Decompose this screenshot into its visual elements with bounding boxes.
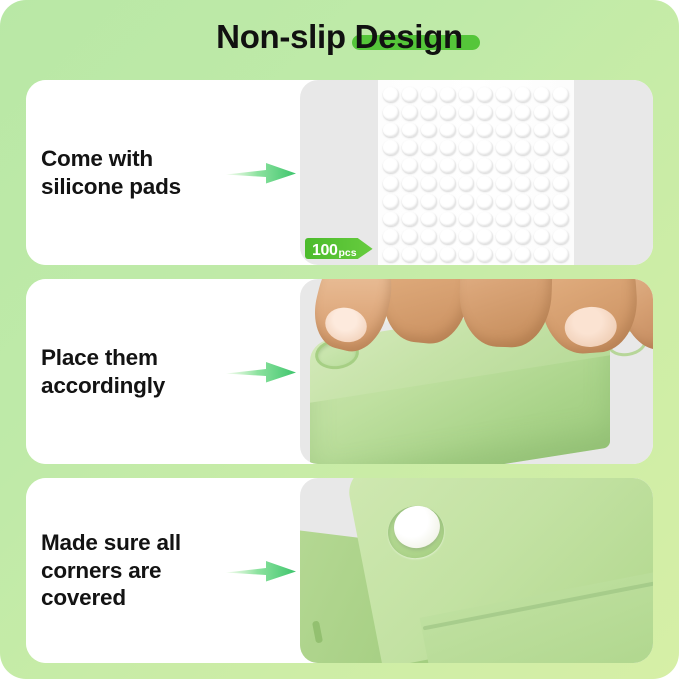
product-infographic: Non-slip Design Come with silicone pads [0,0,679,679]
silicone-pad [459,87,475,102]
silicone-pad [402,158,418,173]
card-3-caption-area: Made sure all corners are covered [26,478,300,663]
page-title: Non-slip Design [216,18,463,55]
silicone-pad [496,87,512,102]
card-2-caption-area: Place them accordingly [26,279,300,464]
silicone-pad [459,229,475,244]
silicone-pad [383,105,399,120]
silicone-pad [440,123,456,138]
silicone-pad [421,247,437,262]
silicone-pad [515,158,531,173]
silicone-pad [459,247,475,262]
silicone-pad [440,247,456,262]
silicone-pad [515,123,531,138]
silicone-pad [459,194,475,209]
silicone-pad [440,105,456,120]
silicone-pad [402,229,418,244]
silicone-pad [477,123,493,138]
feature-card-2: Place them accordingly [26,279,653,464]
silicone-pad [515,105,531,120]
silicone-pad [477,247,493,262]
silicone-pad [496,229,512,244]
silicone-pad [496,158,512,173]
thumbnail [563,305,618,349]
card-1-caption: Come with silicone pads [26,145,181,200]
silicone-pad [496,212,512,227]
silicone-pad [402,212,418,227]
card-3-caption: Made sure all corners are covered [26,529,181,612]
silicone-pad [421,140,437,155]
silicone-pad [553,176,569,191]
silicone-pad [515,194,531,209]
silicone-pad [496,140,512,155]
silicone-pad [421,176,437,191]
silicone-pad [496,194,512,209]
silicone-pad [553,87,569,102]
arrow-right-icon [226,558,296,584]
silicone-pad [553,140,569,155]
silicone-pad [553,212,569,227]
hand-placing-pad-photo [300,279,653,464]
silicone-pad [477,212,493,227]
silicone-pad [477,176,493,191]
silicone-pad [440,229,456,244]
silicone-pad [402,140,418,155]
silicone-pad [459,158,475,173]
card-2-caption: Place them accordingly [26,344,165,399]
silicone-pad [515,212,531,227]
card-2-caption-line-2: accordingly [41,372,165,400]
silicone-pad [421,158,437,173]
card-3-photo [300,478,653,663]
silicone-pad [440,176,456,191]
feature-card-1: Come with silicone pads 100 [26,80,653,265]
silicone-pad [534,140,550,155]
silicone-pad [477,229,493,244]
arrow-right-icon [226,160,296,186]
card-1-photo: 100 pcs [300,80,653,265]
silicone-pad [477,140,493,155]
card-1-caption-area: Come with silicone pads [26,80,300,265]
silicone-pad [383,194,399,209]
silicone-pad [477,87,493,102]
badge-unit: pcs [338,248,357,260]
silicone-pad [421,212,437,227]
silicone-pad [496,247,512,262]
card-1-caption-line-2: silicone pads [41,173,181,201]
silicone-pad [383,87,399,102]
silicone-pad [515,229,531,244]
silicone-pad [383,176,399,191]
silicone-pad [402,123,418,138]
silicone-pad [477,194,493,209]
silicone-pad [459,140,475,155]
silicone-pad [534,247,550,262]
silicone-pad [402,247,418,262]
silicone-pad [534,212,550,227]
silicone-pad [421,229,437,244]
silicone-pad [459,123,475,138]
silicone-pad [553,229,569,244]
silicone-pad [534,176,550,191]
badge-count: 100 [312,243,338,259]
feature-card-3: Made sure all corners are covered [26,478,653,663]
silicone-pad [440,158,456,173]
silicone-pad [553,158,569,173]
fingernail [322,303,371,346]
card-2-caption-line-1: Place them [41,344,165,372]
silicone-pad [421,194,437,209]
arrow-right-icon [226,359,296,385]
silicone-pad [477,158,493,173]
silicone-pad [440,87,456,102]
poster-header: Non-slip Design [0,8,679,66]
silicone-pad [553,123,569,138]
silicone-pad [534,158,550,173]
silicone-pad [534,194,550,209]
card-3-caption-line-3: covered [41,584,181,612]
silicone-pad [383,247,399,262]
quantity-badge: 100 pcs [305,238,373,259]
silicone-pad-grid [382,86,570,263]
silicone-pad [496,123,512,138]
silicone-pad [440,140,456,155]
installed-pad-closeup-photo [300,478,653,663]
silicone-pad [534,123,550,138]
silicone-pad [383,123,399,138]
silicone-pad [383,158,399,173]
silicone-pad [477,105,493,120]
silicone-pad [421,105,437,120]
silicone-pad [383,212,399,227]
silicone-pad [534,105,550,120]
silicone-pad [515,247,531,262]
silicone-pad [553,105,569,120]
silicone-pad [459,105,475,120]
silicone-pad [515,176,531,191]
silicone-pad [440,194,456,209]
card-1-caption-line-1: Come with [41,145,181,173]
silicone-pad [534,87,550,102]
silicone-pad [515,87,531,102]
silicone-pad [421,123,437,138]
silicone-pad [402,105,418,120]
title-group: Non-slip Design [216,18,463,56]
silicone-pad [534,229,550,244]
silicone-pad [402,87,418,102]
silicone-pad-sheet [378,80,574,265]
silicone-pad [421,87,437,102]
silicone-pad [383,229,399,244]
silicone-pad [459,176,475,191]
silicone-pad [402,194,418,209]
card-3-caption-line-2: corners are [41,557,181,585]
silicone-pad [459,212,475,227]
silicone-pad [553,194,569,209]
silicone-pad [515,140,531,155]
card-3-caption-line-1: Made sure all [41,529,181,557]
silicone-pad [440,212,456,227]
silicone-pad [553,247,569,262]
silicone-pad [496,105,512,120]
silicone-pad [383,140,399,155]
card-2-photo [300,279,653,464]
silicone-pad [402,176,418,191]
silicone-pad [496,176,512,191]
